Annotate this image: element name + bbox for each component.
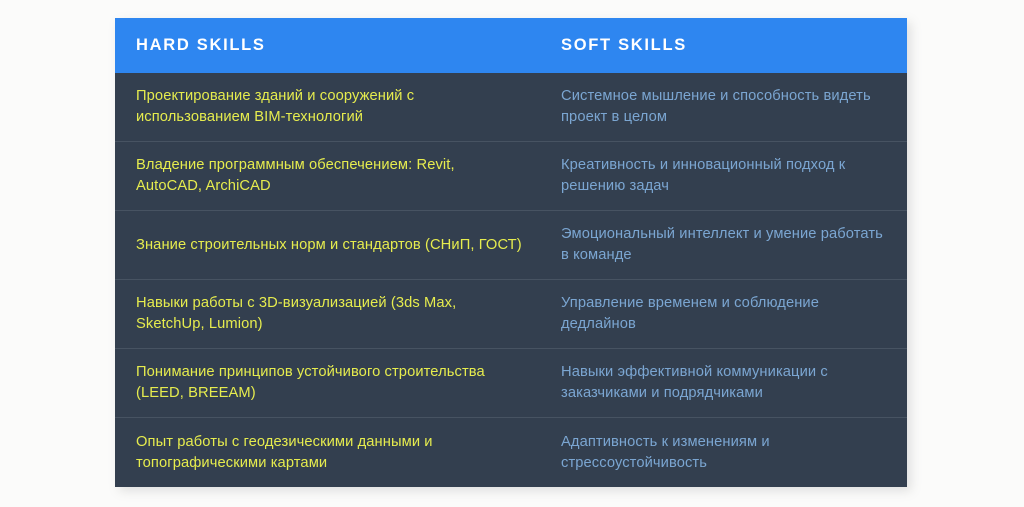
cell-hard-skill: Опыт работы с геодезическими данными и т… [115, 432, 538, 474]
cell-hard-skill: Навыки работы с 3D-визуализацией (3ds Ma… [115, 293, 538, 335]
cell-hard-skill: Владение программным обеспечением: Revit… [115, 155, 538, 197]
cell-soft-skill: Креативность и инновационный подход к ре… [538, 155, 907, 197]
cell-text: Адаптивность к изменениям и стрессоустой… [561, 432, 893, 474]
cell-text: Опыт работы с геодезическими данными и т… [136, 432, 524, 474]
table-row: Навыки работы с 3D-визуализацией (3ds Ma… [115, 280, 907, 349]
cell-soft-skill: Адаптивность к изменениям и стрессоустой… [538, 432, 907, 474]
cell-soft-skill: Управление временем и соблюдение дедлайн… [538, 293, 907, 335]
table-row: Проектирование зданий и сооружений с исп… [115, 73, 907, 142]
cell-text: Знание строительных норм и стандартов (С… [136, 235, 524, 256]
cell-text: Проектирование зданий и сооружений с исп… [136, 86, 524, 128]
cell-soft-skill: Эмоциональный интеллект и умение работат… [538, 224, 907, 266]
cell-text: Креативность и инновационный подход к ре… [561, 155, 893, 197]
cell-text: Владение программным обеспечением: Revit… [136, 155, 524, 197]
cell-hard-skill: Проектирование зданий и сооружений с исп… [115, 86, 538, 128]
table-row: Понимание принципов устойчивого строител… [115, 349, 907, 418]
cell-soft-skill: Навыки эффективной коммуникации с заказч… [538, 362, 907, 404]
table-row: Владение программным обеспечением: Revit… [115, 142, 907, 211]
cell-hard-skill: Знание строительных норм и стандартов (С… [115, 235, 538, 256]
table-row: Знание строительных норм и стандартов (С… [115, 211, 907, 280]
cell-text: Эмоциональный интеллект и умение работат… [561, 224, 893, 266]
cell-text: Навыки эффективной коммуникации с заказч… [561, 362, 893, 404]
table-header-row: HARD SKILLS SOFT SKILLS [115, 18, 907, 73]
cell-text: Управление временем и соблюдение дедлайн… [561, 293, 893, 335]
table-body: Проектирование зданий и сооружений с исп… [115, 73, 907, 487]
cell-text: Понимание принципов устойчивого строител… [136, 362, 524, 404]
cell-hard-skill: Понимание принципов устойчивого строител… [115, 362, 538, 404]
cell-text: Системное мышление и способность видеть … [561, 86, 893, 128]
table-row: Опыт работы с геодезическими данными и т… [115, 418, 907, 487]
skills-comparison-table: HARD SKILLS SOFT SKILLS Проектирование з… [115, 18, 907, 487]
column-header-hard-skills: HARD SKILLS [115, 37, 538, 54]
cell-soft-skill: Системное мышление и способность видеть … [538, 86, 907, 128]
cell-text: Навыки работы с 3D-визуализацией (3ds Ma… [136, 293, 524, 335]
column-header-soft-skills: SOFT SKILLS [538, 37, 907, 54]
